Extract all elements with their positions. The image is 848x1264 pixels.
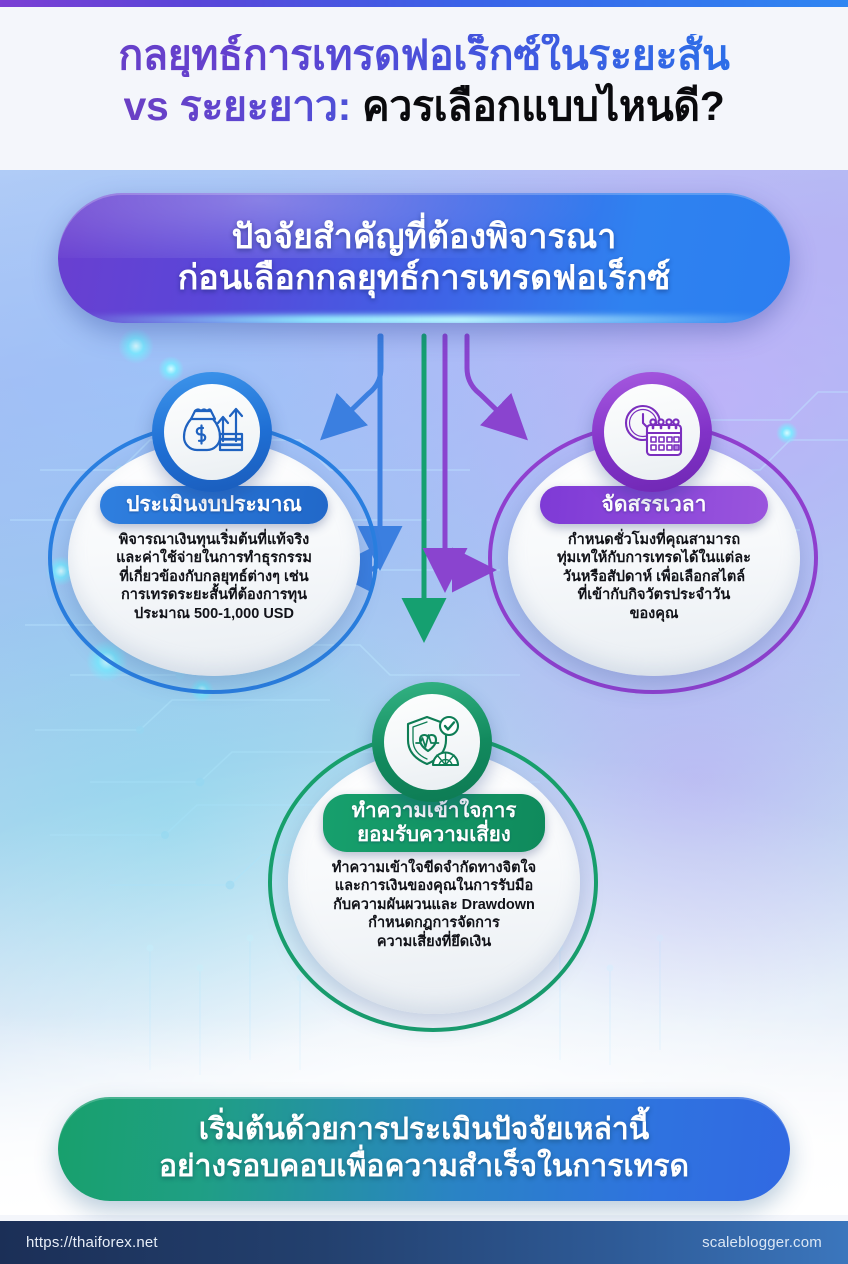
cta-banner[interactable]: เริ่มต้นด้วยการประเมินปัจจัยเหล่านี้ อย่… (58, 1097, 790, 1201)
card-time-body-line: วันหรือสัปดาห์ เพื่อเลือกสไตล์ (516, 568, 792, 586)
card-risk-body-line: และการเงินของคุณในการรับมือ (296, 877, 572, 895)
card-budget-icon-badge (152, 372, 272, 492)
card-risk-title-line1: ทำความเข้าใจการ (352, 799, 517, 823)
card-time-icon-badge (592, 372, 712, 492)
cta-line1: เริ่มต้นด้วยการประเมินปัจจัยเหล่านี้ (199, 1113, 650, 1146)
card-time-body-line: ของคุณ (516, 605, 792, 623)
page-title-line2-suffix: ควรเลือกแบบไหนดี? (362, 83, 724, 129)
money-bag-growth-icon (164, 384, 260, 480)
card-time-body-line: ทุ่มเทให้กับการเทรดได้ในแต่ละ (516, 549, 792, 567)
card-risk-body-line: ความเสี่ยงที่ยึดเงิน (296, 933, 572, 951)
card-budget-body-line: การเทรดระยะสั้นที่ต้องการทุน (77, 586, 351, 604)
arrow-right-hook (445, 556, 472, 570)
key-factors-banner: ปัจจัยสำคัญที่ต้องพิจารณา ก่อนเลือกกลยุท… (58, 193, 790, 323)
card-budget-body-line: พิจารณาเงินทุนเริ่มต้นที่แท้จริง (77, 531, 351, 549)
card-budget-body: พิจารณาเงินทุนเริ่มต้นที่แท้จริง และค่าใ… (77, 531, 351, 623)
card-budget-body-line: และค่าใช้จ่ายในการทำธุรกรรม (77, 549, 351, 567)
footer-bar: https://thaiforex.net scaleblogger.com (0, 1221, 848, 1264)
footer-source-url[interactable]: https://thaiforex.net (26, 1234, 158, 1251)
card-risk-body-line: กับความผันผวนและ Drawdown (296, 896, 572, 914)
card-budget-body-line: ที่เกี่ยวข้องกับกลยุทธ์ต่างๆ เช่น (77, 568, 351, 586)
banner-line2: ก่อนเลือกกลยุทธ์การเทรดฟอเร็กซ์ (178, 259, 671, 297)
card-risk-icon-badge (372, 682, 492, 802)
card-budget-body-line: ประมาณ 500-1,000 USD (77, 605, 351, 623)
cta-line2: อย่างรอบคอบเพื่อความสำเร็จในการเทรด (159, 1150, 689, 1183)
card-risk-body-line: ทำความเข้าใจขีดจำกัดทางจิตใจ (296, 859, 572, 877)
infographic-page: กลยุทธ์การเทรดฟอเร็กซ์ในระยะสั้น vs ระยะ… (0, 0, 848, 1264)
card-time-body: กำหนดชั่วโมงที่คุณสามารถ ทุ่มเทให้กับการ… (516, 531, 792, 623)
top-accent-bar (0, 0, 848, 7)
banner-text: ปัจจัยสำคัญที่ต้องพิจารณา ก่อนเลือกกลยุท… (178, 217, 671, 300)
card-risk-body-line: กำหนดกฎการจัดการ (296, 914, 572, 932)
footer-brand-url[interactable]: scaleblogger.com (702, 1234, 822, 1251)
card-time-body-line: ที่เข้ากับกิจวัตรประจำวัน (516, 586, 792, 604)
banner-line1: ปัจจัยสำคัญที่ต้องพิจารณา (232, 218, 617, 256)
card-risk-body: ทำความเข้าใจขีดจำกัดทางจิตใจ และการเงินข… (296, 859, 572, 951)
cta-text: เริ่มต้นด้วยการประเมินปัจจัยเหล่านี้ อย่… (159, 1112, 689, 1185)
card-risk-title-line2: ยอมรับความเสี่ยง (357, 823, 511, 847)
page-title-line1: กลยุทธ์การเทรดฟอเร็กซ์ในระยะสั้น (0, 34, 848, 77)
page-title-line2-prefix: vs ระยะยาว: (124, 83, 363, 129)
shield-heartbeat-gauge-icon (384, 694, 480, 790)
card-budget[interactable]: ประเมินงบประมาณ พิจารณาเงินทุนเริ่มต้นที… (48, 372, 378, 702)
card-time[interactable]: จัดสรรเวลา กำหนดชั่วโมงที่คุณสามารถ ทุ่ม… (488, 372, 818, 702)
card-time-body-line: กำหนดชั่วโมงที่คุณสามารถ (516, 531, 792, 549)
card-risk-title: ทำความเข้าใจการ ยอมรับความเสี่ยง (323, 794, 545, 852)
clock-calendar-icon (604, 384, 700, 480)
card-risk[interactable]: ทำความเข้าใจการ ยอมรับความเสี่ยง ทำความเ… (268, 682, 598, 1042)
page-title: กลยุทธ์การเทรดฟอเร็กซ์ในระยะสั้น vs ระยะ… (0, 34, 848, 129)
page-title-line2: vs ระยะยาว: ควรเลือกแบบไหนดี? (0, 85, 848, 128)
